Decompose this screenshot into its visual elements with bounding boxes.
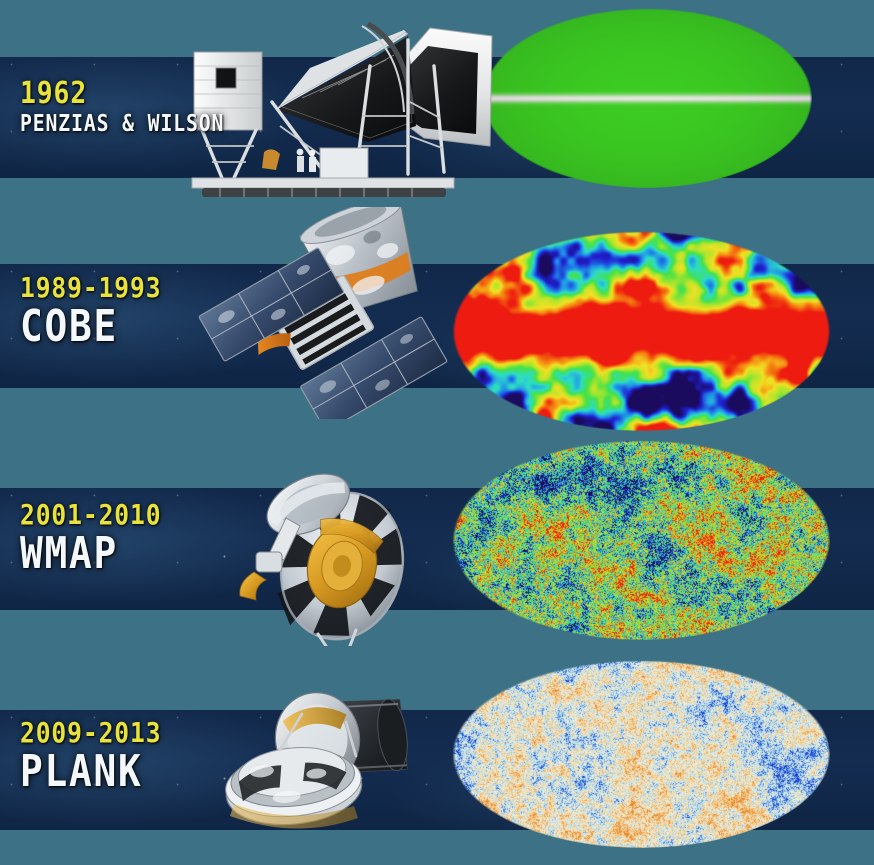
penzias-wilson-sky-map	[482, 8, 812, 188]
cobe-sky-map	[452, 231, 830, 431]
caption-years: 2001-2010	[20, 500, 161, 529]
timeline-row-cobe: 1989-1993 COBE	[0, 205, 874, 420]
caption-instrument-name: COBE	[20, 304, 158, 350]
caption-instrument-name: PLANK	[20, 749, 158, 795]
caption-cobe: 1989-1993 COBE	[20, 273, 181, 351]
wmap-satellite-image	[214, 456, 454, 646]
caption-instrument-name: WMAP	[20, 531, 158, 577]
caption-years: 1962	[20, 78, 229, 110]
cmb-timeline-figure: 1962 PENZIAS & WILSON	[0, 0, 874, 865]
planck-satellite-image	[206, 672, 446, 842]
planck-sky-map	[452, 660, 830, 848]
caption-penzias-wilson: 1962 PENZIAS & WILSON	[20, 78, 258, 136]
caption-planck: 2009-2013 PLANK	[20, 718, 181, 796]
caption-years: 1989-1993	[20, 273, 161, 302]
timeline-row-planck: 2009-2013 PLANK	[0, 642, 874, 865]
wmap-sky-map	[452, 440, 830, 640]
cobe-satellite-image	[196, 207, 464, 419]
timeline-row-wmap: 2001-2010 WMAP	[0, 420, 874, 642]
timeline-row-penzias-wilson: 1962 PENZIAS & WILSON	[0, 0, 874, 205]
caption-instrument-name: PENZIAS & WILSON	[20, 112, 224, 136]
caption-wmap: 2001-2010 WMAP	[20, 500, 181, 578]
caption-years: 2009-2013	[20, 718, 161, 747]
